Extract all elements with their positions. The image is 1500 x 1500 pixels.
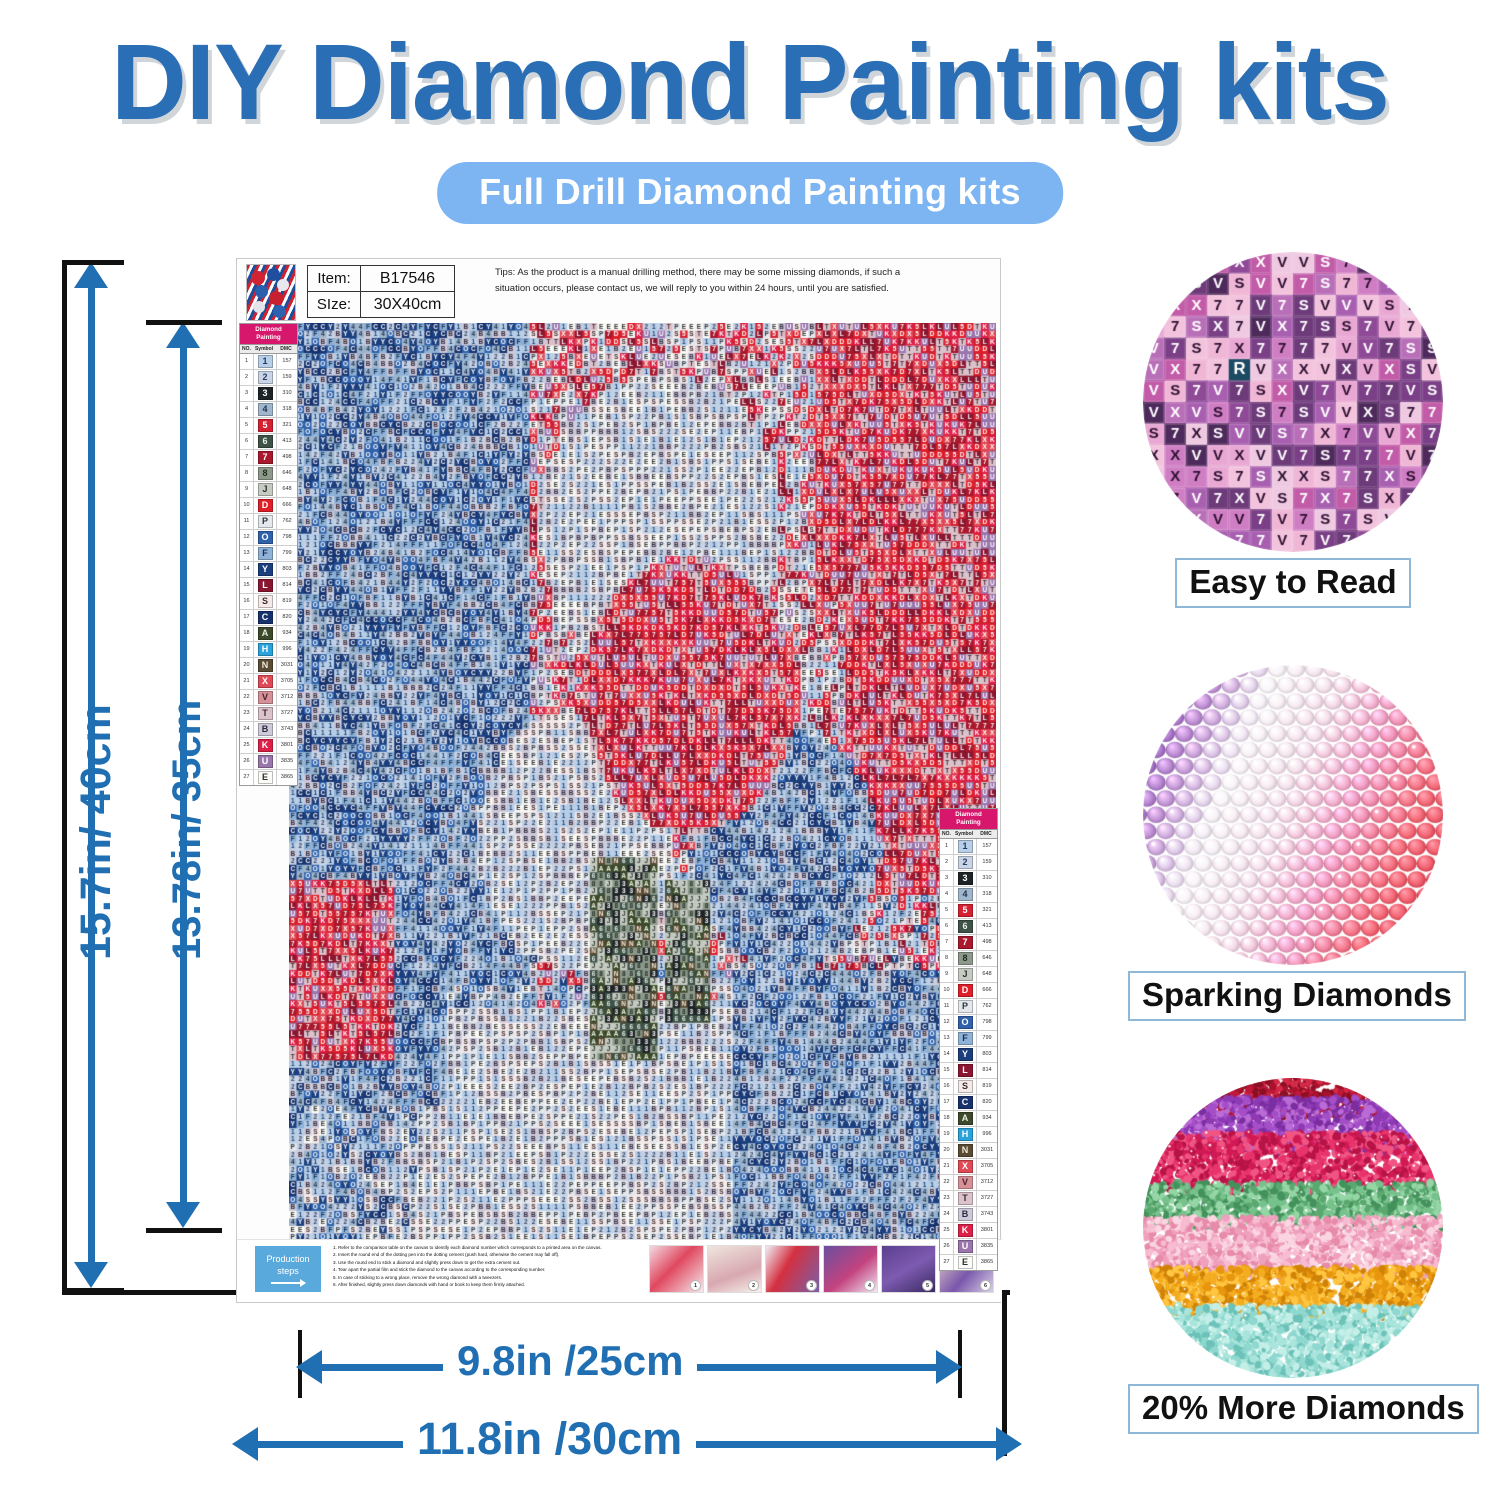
legend-row-symbol-cell: B [254,722,277,737]
legend-symbol-swatch: 8 [958,952,973,965]
legend-row-dmc: 996 [277,642,297,657]
legend-row-dmc: 3743 [977,1207,997,1222]
legend-symbol-swatch: 2 [258,371,273,384]
symbol-grid-closeup-canvas [1143,252,1443,552]
legend-symbol-swatch: L [958,1064,973,1077]
legend-row: 12O798 [240,530,297,546]
step-photo: 2 [707,1245,762,1293]
legend-row-no: 8 [240,466,254,481]
legend-row-no: 14 [940,1047,954,1062]
legend-row-dmc: 666 [277,498,297,513]
header: DIY Diamond Painting kits Full Drill Dia… [0,0,1500,230]
legend-row: 25K3801 [240,738,297,754]
legend-row-no: 17 [240,610,254,625]
legend-row-symbol-cell: F [954,1031,977,1046]
legend-row-no: 26 [240,754,254,769]
outer-height-arrow-head-bottom [74,1262,108,1288]
legend-symbol-swatch: D [958,984,973,997]
thumbnail-rose [273,305,286,318]
legend-row-symbol-cell: A [954,1111,977,1126]
legend-title-right: Diamond Painting [940,809,997,829]
legend-symbol-swatch: J [958,968,973,981]
legend-row-no: 6 [940,919,954,934]
legend-symbol-swatch: X [258,675,273,688]
production-badge-line1: Production [266,1254,309,1266]
legend-row-symbol-cell: 4 [954,887,977,902]
legend-row-dmc: 646 [977,951,997,966]
legend-row-dmc: 799 [977,1031,997,1046]
production-badge-line2: steps [277,1266,299,1278]
legend-symbol-swatch: E [258,771,273,784]
legend-row: 55321 [940,903,997,919]
legend-row-no: 22 [240,690,254,705]
legend-row-symbol-cell: K [954,1223,977,1238]
legend-row-dmc: 3031 [277,658,297,673]
legend-row-no: 21 [940,1159,954,1174]
legend-symbol-swatch: P [958,1000,973,1013]
item-row: Item: B17546 [308,266,454,292]
canvas-sheet: Item: B17546 SIze: 30X40cm Tips: As the … [236,258,1001,1303]
thumbnail-rose [269,291,283,305]
legend-row-symbol-cell: 3 [254,386,277,401]
legend-body-left: 1115722159333104431855321664137749888646… [240,354,297,785]
production-steps-badge: Production steps [255,1246,321,1292]
legend-col-symbol: Symbol [953,830,975,838]
legend-symbol-swatch: 1 [958,840,973,853]
legend-row: 17C820 [940,1095,997,1111]
legend-row-symbol-cell: A [254,626,277,641]
tips-text: Tips: As the product is a manual drillin… [495,265,925,296]
legend-row-no: 10 [240,498,254,513]
legend-row-dmc: 3727 [277,706,297,721]
legend-row-symbol-cell: L [954,1063,977,1078]
feature-easy-to-read: Easy to Read [1128,252,1458,608]
legend-symbol-swatch: 2 [958,856,973,869]
legend-row-dmc: 413 [977,919,997,934]
legend-row-symbol-cell: X [954,1159,977,1174]
legend-row-no: 7 [240,450,254,465]
legend-row-no: 27 [940,1255,954,1270]
legend-title-line1: Diamond [940,811,997,819]
legend-symbol-swatch: T [958,1192,973,1205]
legend-symbol-swatch: A [258,627,273,640]
legend-row: 66413 [240,434,297,450]
production-step: 6. After finished, slightly press down d… [333,1281,603,1288]
legend-row-symbol-cell: J [254,482,277,497]
step-photo-number: 6 [980,1280,991,1291]
legend-row-symbol-cell: D [954,983,977,998]
legend-row-dmc: 646 [277,466,297,481]
legend-col-no: NO. [240,345,253,353]
legend-col-dmc: DMC [275,345,297,353]
legend-row: 18A934 [940,1111,997,1127]
size-value: 30X40cm [361,292,454,317]
legend-symbol-swatch: K [258,739,273,752]
legend-row-dmc: 3865 [977,1255,997,1270]
inner-height-label: 13.78in/ 35cm [165,700,210,960]
legend-row-symbol-cell: 6 [254,434,277,449]
legend-symbol-swatch: 6 [258,435,273,448]
outer-height-tick-top [62,260,124,265]
legend-row: 33310 [240,386,297,402]
page-title: DIY Diamond Painting kits [23,28,1478,136]
legend-row-symbol-cell: F [254,546,277,561]
legend-symbol-swatch: U [258,755,273,768]
legend-row: 20N3031 [240,658,297,674]
outer-frame-left-edge [62,260,67,1295]
legend-row: 13F799 [940,1031,997,1047]
legend-row-no: 1 [240,354,254,369]
outer-width-label: 11.8in /30cm [403,1413,696,1465]
product-thumbnail [246,264,296,321]
legend-row: 33310 [940,871,997,887]
legend-row-dmc: 498 [277,450,297,465]
legend-row-dmc: 318 [977,887,997,902]
legend-symbol-swatch: C [258,611,273,624]
legend-symbol-swatch: V [258,691,273,704]
legend-row-no: 16 [240,594,254,609]
legend-row: 19H996 [940,1127,997,1143]
legend-row-symbol-cell: U [954,1239,977,1254]
legend-table-left: Diamond Painting NO. Symbol DMC 11157221… [239,323,298,786]
feature-label-sparking-diamonds: Sparking Diamonds [1128,971,1466,1021]
legend-row: 9J648 [240,482,297,498]
legend-row-symbol-cell: E [254,770,277,785]
legend-symbol-swatch: 5 [258,419,273,432]
legend-row: 22159 [940,855,997,871]
legend-row-dmc: 157 [977,839,997,854]
inner-height-tick-top [146,320,222,325]
legend-row-no: 10 [940,983,954,998]
feature-image-symbol-grid [1143,252,1443,552]
legend-row: 14Y803 [240,562,297,578]
legend-row-dmc: 318 [277,402,297,417]
legend-row-symbol-cell: B [954,1207,977,1222]
legend-row-dmc: 648 [977,967,997,982]
production-step: 4. Tear apart the partial film and stick… [333,1266,603,1273]
legend-col-symbol: Symbol [253,345,275,353]
legend-row-symbol-cell: 5 [954,903,977,918]
legend-row-no: 5 [940,903,954,918]
legend-row: 22V3712 [940,1175,997,1191]
subtitle-badge: Full Drill Diamond Painting kits [437,162,1063,224]
legend-symbol-swatch: A [958,1112,973,1125]
legend-row-dmc: 814 [977,1063,997,1078]
legend-row: 23T3727 [240,706,297,722]
legend-symbol-swatch: C [958,1096,973,1109]
legend-symbol-swatch: B [958,1208,973,1221]
step-photo-number: 3 [806,1280,817,1291]
thumbnail-rose [253,301,265,313]
legend-symbol-swatch: X [958,1160,973,1173]
legend-row-no: 25 [940,1223,954,1238]
legend-col-no: NO. [940,830,953,838]
legend-row-no: 23 [240,706,254,721]
legend-row: 11157 [940,839,997,855]
production-step: 1. Refer to the comparison table on the … [333,1244,603,1251]
legend-row-symbol-cell: S [954,1079,977,1094]
legend-row-symbol-cell: P [954,999,977,1014]
feature-sparking-diamonds: Sparking Diamonds [1128,665,1458,1021]
legend-row-symbol-cell: 3 [954,871,977,886]
legend-row: 16S819 [240,594,297,610]
legend-row: 17C820 [240,610,297,626]
drill-rows-closeup-canvas [1143,665,1443,965]
legend-row-dmc: 820 [977,1095,997,1110]
arrow-right-icon [271,1282,305,1284]
legend-symbol-swatch: 4 [258,403,273,416]
step-photo-number: 5 [922,1280,933,1291]
legend-row-no: 26 [940,1239,954,1254]
legend-row: 77498 [940,935,997,951]
legend-row: 26U3835 [240,754,297,770]
pattern-grid [289,323,996,1241]
legend-row-symbol-cell: K [254,738,277,753]
legend-row-no: 13 [240,546,254,561]
legend-title-left: Diamond Painting [240,324,297,344]
production-step: 3. Use the round end to stick a diamond … [333,1259,603,1266]
legend-row-dmc: 996 [977,1127,997,1142]
step-photo: 1 [649,1245,704,1293]
legend-row-dmc: 3801 [977,1223,997,1238]
thumbnail-rose [267,268,280,281]
legend-row-no: 22 [940,1175,954,1190]
legend-symbol-swatch: 8 [258,467,273,480]
legend-row-no: 1 [940,839,954,854]
legend-row: 20N3031 [940,1143,997,1159]
legend-row: 66413 [940,919,997,935]
legend-row-dmc: 413 [277,434,297,449]
legend-row-dmc: 819 [977,1079,997,1094]
legend-row-no: 12 [240,530,254,545]
legend-symbol-swatch: S [958,1080,973,1093]
inner-height-arrow-head-top [166,322,200,348]
inner-height-tick-bottom [146,1228,222,1233]
legend-row-dmc: 803 [277,562,297,577]
legend-row-no: 13 [940,1031,954,1046]
inner-height-arrow-head-bottom [166,1202,200,1228]
legend-row: 13F799 [240,546,297,562]
legend-row: 10D666 [940,983,997,999]
legend-row-symbol-cell: V [254,690,277,705]
legend-row-dmc: 762 [977,999,997,1014]
legend-row-no: 18 [940,1111,954,1126]
legend-row: 44318 [940,887,997,903]
legend-row-symbol-cell: 6 [954,919,977,934]
legend-symbol-swatch: 5 [958,904,973,917]
legend-row-no: 16 [940,1079,954,1094]
legend-row: 21X3705 [940,1159,997,1175]
legend-symbol-swatch: B [258,723,273,736]
legend-row-dmc: 803 [977,1047,997,1062]
item-info-box: Item: B17546 SIze: 30X40cm [307,265,455,318]
legend-row-no: 11 [240,514,254,529]
thumbnail-rose [255,285,268,298]
legend-row-no: 11 [940,999,954,1014]
inner-width-arrow-head-left [296,1350,322,1384]
legend-row-symbol-cell: L [254,578,277,593]
production-step: 2. Insert the round end of the dotting p… [333,1251,603,1258]
legend-row-dmc: 648 [277,482,297,497]
legend-row-no: 7 [940,935,954,950]
legend-col-dmc: DMC [975,830,997,838]
legend-row-no: 17 [940,1095,954,1110]
legend-row-dmc: 3727 [977,1191,997,1206]
legend-symbol-swatch: 4 [958,888,973,901]
legend-row: 88646 [940,951,997,967]
legend-row-symbol-cell: H [254,642,277,657]
legend-row-no: 20 [240,658,254,673]
legend-row-symbol-cell: N [954,1143,977,1158]
legend-symbol-swatch: J [258,483,273,496]
outer-height-arrow-head-top [74,262,108,288]
legend-row: 11P762 [240,514,297,530]
legend-symbol-swatch: 3 [958,872,973,885]
legend-symbol-swatch: D [258,499,273,512]
legend-row: 77498 [240,450,297,466]
legend-row-no: 19 [940,1127,954,1142]
legend-row-no: 15 [940,1063,954,1078]
legend-row-no: 19 [240,642,254,657]
legend-row-no: 14 [240,562,254,577]
legend-row-dmc: 310 [977,871,997,886]
legend-symbol-swatch: O [958,1016,973,1029]
legend-row-dmc: 934 [977,1111,997,1126]
legend-row: 21X3705 [240,674,297,690]
legend-row: 44318 [240,402,297,418]
legend-row: 16S819 [940,1079,997,1095]
legend-row-no: 9 [940,967,954,982]
legend-symbol-swatch: 3 [258,387,273,400]
legend-row-dmc: 814 [277,578,297,593]
legend-row-dmc: 798 [277,530,297,545]
thumbnail-rose [277,279,289,291]
legend-row-dmc: 159 [277,370,297,385]
legend-row-dmc: 762 [277,514,297,529]
legend-row-dmc: 666 [977,983,997,998]
legend-row-symbol-cell: 2 [954,855,977,870]
legend-row-symbol-cell: Y [254,562,277,577]
legend-symbol-swatch: H [258,643,273,656]
legend-row-no: 15 [240,578,254,593]
legend-row: 24B3743 [940,1207,997,1223]
legend-row-dmc: 3865 [277,770,297,785]
legend-row-no: 21 [240,674,254,689]
legend-row: 10D666 [240,498,297,514]
legend-symbol-swatch: E [958,1256,973,1269]
legend-row-dmc: 934 [277,626,297,641]
legend-row-dmc: 3705 [977,1159,997,1174]
size-row: SIze: 30X40cm [308,292,454,317]
legend-row-dmc: 3743 [277,722,297,737]
legend-row-dmc: 321 [977,903,997,918]
legend-symbol-swatch: V [958,1176,973,1189]
legend-row-no: 25 [240,738,254,753]
legend-row-symbol-cell: Y [954,1047,977,1062]
legend-symbol-swatch: F [258,547,273,560]
loose-drills-closeup-canvas [1143,1078,1443,1378]
legend-row: 26U3835 [940,1239,997,1255]
legend-row-symbol-cell: O [254,530,277,545]
legend-row-dmc: 310 [277,386,297,401]
outer-width-arrow-head-left [232,1427,258,1461]
legend-row-no: 6 [240,434,254,449]
legend-row-symbol-cell: 4 [254,402,277,417]
legend-row-symbol-cell: E [954,1255,977,1270]
legend-row-dmc: 3835 [277,754,297,769]
legend-symbol-swatch: N [258,659,273,672]
legend-row-symbol-cell: O [954,1015,977,1030]
legend-row-symbol-cell: 1 [954,839,977,854]
step-photo: 4 [823,1245,878,1293]
legend-symbol-swatch: F [958,1032,973,1045]
legend-symbol-swatch: T [258,707,273,720]
legend-row-symbol-cell: 8 [254,466,277,481]
legend-row-symbol-cell: T [954,1191,977,1206]
legend-row: 14Y803 [940,1047,997,1063]
legend-row-symbol-cell: 7 [954,935,977,950]
legend-row-symbol-cell: X [254,674,277,689]
legend-row-dmc: 3835 [977,1239,997,1254]
legend-row-dmc: 799 [277,546,297,561]
item-label: Item: [308,266,361,291]
legend-row-dmc: 157 [277,354,297,369]
legend-row-no: 9 [240,482,254,497]
step-photo-number: 1 [690,1280,701,1291]
legend-row: 24B3743 [240,722,297,738]
legend-row-no: 23 [940,1191,954,1206]
legend-row: 55321 [240,418,297,434]
legend-row-dmc: 321 [277,418,297,433]
legend-row: 27E3865 [240,770,297,785]
legend-title-line2: Painting [240,334,297,342]
thumbnail-rose [251,271,265,285]
legend-symbol-swatch: U [958,1240,973,1253]
legend-row-symbol-cell: C [254,610,277,625]
size-label: SIze: [308,292,361,317]
legend-row: 25K3801 [940,1223,997,1239]
legend-row: 88646 [240,466,297,482]
legend-row-no: 2 [940,855,954,870]
legend-row-dmc: 3712 [977,1175,997,1190]
legend-table-right: Diamond Painting NO. Symbol DMC 11157221… [939,808,998,1271]
legend-row-no: 18 [240,626,254,641]
legend-row-no: 24 [940,1207,954,1222]
legend-row: 9J648 [940,967,997,983]
production-steps-strip: Production steps 1. Refer to the compari… [237,1239,1002,1302]
feature-image-drill-rows [1143,665,1443,965]
legend-row-symbol-cell: U [254,754,277,769]
legend-row-no: 4 [240,402,254,417]
legend-row: 18A934 [240,626,297,642]
inner-width-arrow-head-right [936,1350,962,1384]
feature-image-loose-drills [1143,1078,1443,1378]
legend-row: 23T3727 [940,1191,997,1207]
legend-row-symbol-cell: 8 [954,951,977,966]
legend-symbol-swatch: K [958,1224,973,1237]
production-steps-list: 1. Refer to the comparison table on the … [333,1244,603,1289]
legend-row-dmc: 819 [277,594,297,609]
legend-row-no: 5 [240,418,254,433]
legend-row-dmc: 3031 [977,1143,997,1158]
production-step: 5. In case of sticking to a wrong place,… [333,1274,603,1281]
legend-row-dmc: 3712 [277,690,297,705]
legend-row-no: 24 [240,722,254,737]
legend-row: 15L814 [940,1063,997,1079]
legend-row-no: 20 [940,1143,954,1158]
legend-title-line1: Diamond [240,326,297,334]
canvas-header: Item: B17546 SIze: 30X40cm Tips: As the … [237,259,1002,323]
